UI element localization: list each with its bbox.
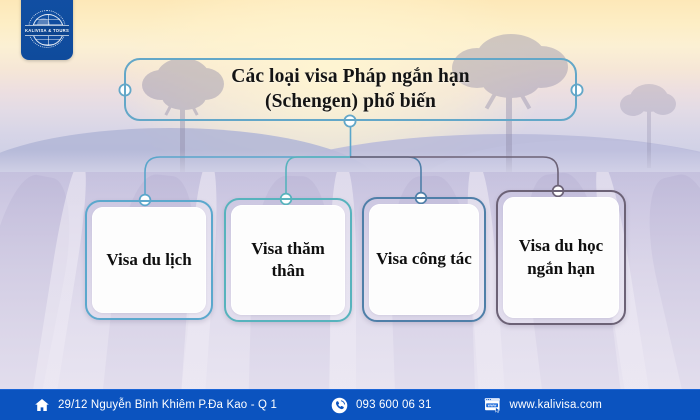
footer-phone[interactable]: 093 600 06 31 <box>331 397 432 414</box>
infographic-canvas: KALIVISA & TOURS Các loại visa Pháp ngắn… <box>0 0 700 420</box>
page-title-line-2: (Schengen) phổ biến <box>265 91 436 112</box>
home-icon <box>34 397 50 413</box>
footer-website-text: www.kalivisa.com <box>510 399 603 411</box>
logo-text: KALIVISA & TOURS <box>25 25 69 36</box>
visa-type-card-1[interactable]: Visa thăm thân <box>224 198 352 322</box>
svg-text:www: www <box>486 403 496 407</box>
visa-type-card-3[interactable]: Visa du học ngắn hạn <box>496 190 626 325</box>
footer-address-text: 29/12 Nguyễn Bỉnh Khiêm P.Đa Kao - Q 1 <box>58 399 277 411</box>
visa-type-card-0-panel: Visa du lịch <box>92 207 206 313</box>
visa-type-card-3-label: Visa du học ngắn hạn <box>503 235 619 279</box>
visa-type-card-2-panel: Visa công tác <box>369 204 479 315</box>
phone-icon <box>331 397 348 414</box>
browser-www-icon: www <box>484 397 502 413</box>
page-title-text: Các loại visa Pháp ngắn hạn (Schengen) p… <box>213 65 487 115</box>
visa-type-card-0[interactable]: Visa du lịch <box>85 200 213 320</box>
visa-type-card-1-label: Visa thăm thân <box>231 238 345 282</box>
contact-footer-bar: 29/12 Nguyễn Bỉnh Khiêm P.Đa Kao - Q 1 0… <box>0 389 700 420</box>
footer-website[interactable]: www www.kalivisa.com <box>484 397 603 413</box>
footer-address[interactable]: 29/12 Nguyễn Bỉnh Khiêm P.Đa Kao - Q 1 <box>34 397 277 413</box>
visa-type-card-0-label: Visa du lịch <box>100 249 197 271</box>
visa-type-card-2[interactable]: Visa công tác <box>362 197 486 322</box>
page-title: Các loại visa Pháp ngắn hạn (Schengen) p… <box>124 58 577 121</box>
footer-phone-text: 093 600 06 31 <box>356 399 432 411</box>
brand-logo[interactable]: KALIVISA & TOURS <box>21 0 73 60</box>
page-title-line-1: Các loại visa Pháp ngắn hạn <box>231 66 469 87</box>
visa-type-card-1-panel: Visa thăm thân <box>231 205 345 315</box>
visa-type-card-2-label: Visa công tác <box>370 248 478 270</box>
globe-badge-icon: KALIVISA & TOURS <box>28 10 66 48</box>
visa-type-card-3-panel: Visa du học ngắn hạn <box>503 197 619 318</box>
